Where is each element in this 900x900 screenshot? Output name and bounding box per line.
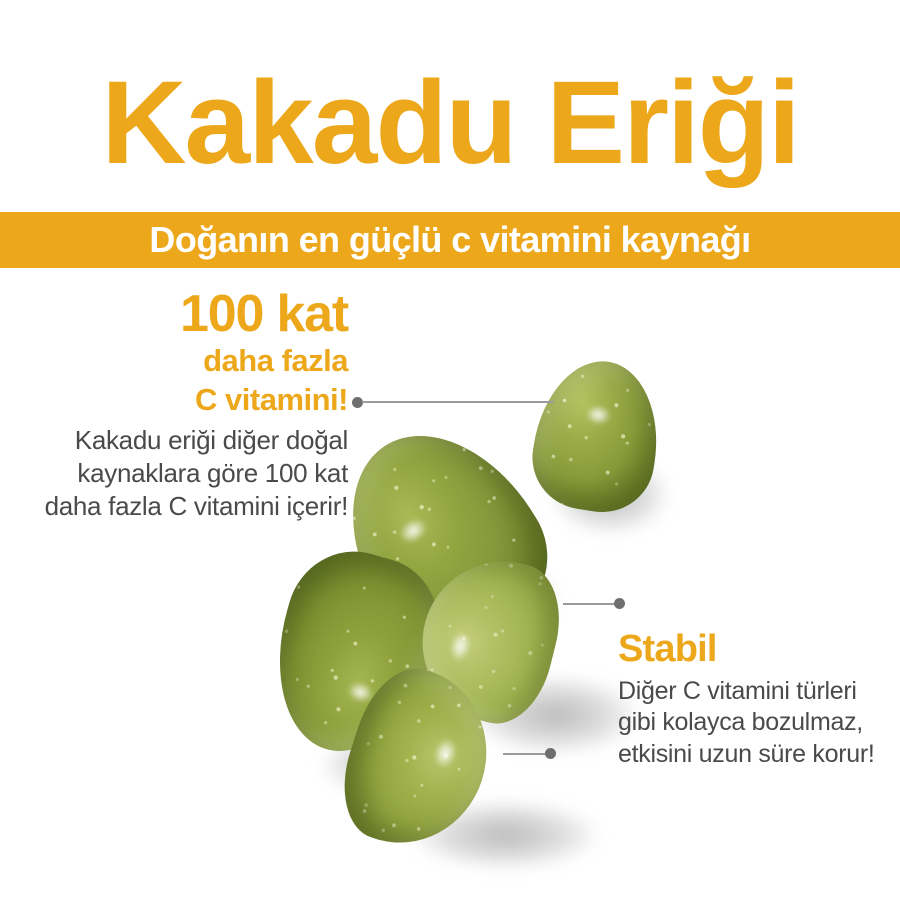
leader-stroke-middle — [563, 603, 617, 605]
leader-stroke-bottom — [503, 753, 549, 755]
poster-canvas: Kakadu Eriği Doğanın en güçlü c vitamini… — [0, 0, 900, 900]
callout-accent-line-2: C vitamini! — [28, 382, 348, 419]
callout-accent-line-1: daha fazla — [28, 343, 348, 380]
leader-stroke-top — [362, 401, 554, 403]
vitamin-c-callout: 100 kat daha fazla C vitamini! Kakadu er… — [28, 288, 348, 522]
plum-top-right — [525, 352, 669, 519]
stability-callout: Stabil Diğer C vitamini türleri gibi kol… — [618, 630, 880, 770]
callout-heading: Stabil — [618, 630, 880, 670]
subtitle-band-text: Doğanın en güçlü c vitamini kaynağı — [149, 222, 750, 258]
page-title: Kakadu Eriği — [0, 62, 900, 186]
subtitle-band: Doğanın en güçlü c vitamini kaynağı — [0, 212, 900, 268]
leader-dot-middle — [614, 598, 625, 609]
callout-big-number: 100 kat — [28, 288, 348, 341]
callout-body-text: Kakadu eriği diğer doğal kaynaklara göre… — [28, 424, 348, 522]
leader-dot-bottom — [545, 748, 556, 759]
callout-body-text: Diğer C vitamini türleri gibi kolayca bo… — [618, 676, 880, 771]
